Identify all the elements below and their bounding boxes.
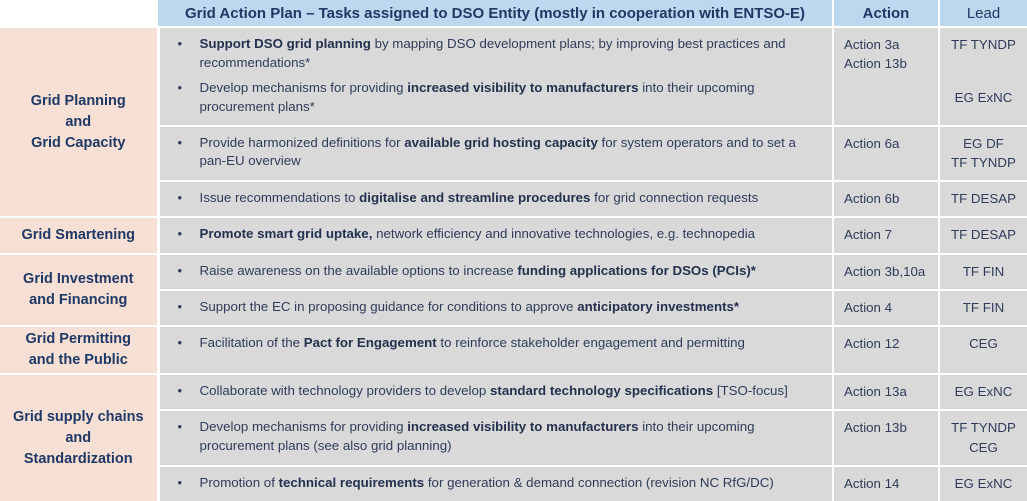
task-bullet-list: •Promotion of technical requirements for… [166,474,823,493]
action-cell: Action 13b [833,410,939,466]
bullet-dot-icon: • [178,225,183,243]
bullet-dot-icon: • [178,79,183,97]
header-title: Grid Action Plan – Tasks assigned to DSO… [158,0,833,27]
header-lead-column: Lead [939,0,1027,27]
bullet-dot-icon: • [178,418,183,436]
grid-action-plan-table-sheet: Grid Action Plan – Tasks assigned to DSO… [0,0,1027,461]
lead-value-secondary: EG ExNC [946,88,1021,107]
task-cell: •Support the EC in proposing guidance fo… [158,290,833,326]
task-cell: •Issue recommendations to digitalise and… [158,181,833,217]
task-bullet-list: •Provide harmonized definitions for avai… [166,134,823,172]
lead-cell: TF TYNDPEG ExNC [939,27,1027,126]
bullet-dot-icon: • [178,189,183,207]
task-bullet-item: •Raise awareness on the available option… [166,262,823,281]
category-label-1: Grid PlanningandGrid Capacity [0,27,158,217]
task-cell: •Facilitation of the Pact for Engagement… [158,326,833,374]
category-label-4: Grid Permittingand the Public [0,326,158,374]
task-bullet-list: •Collaborate with technology providers t… [166,382,823,401]
task-bullet-item: •Promote smart grid uptake, network effi… [166,225,823,244]
action-cell: Action 3a Action 13b [833,27,939,126]
task-bullet-item: •Issue recommendations to digitalise and… [166,189,823,208]
task-bullet-emphasis: increased visibility to manufacturers [407,419,638,434]
grid-action-plan-table: Grid Action Plan – Tasks assigned to DSO… [0,0,1027,501]
task-bullet-list: •Support DSO grid planning by mapping DS… [166,35,823,117]
category-label-3: Grid Investmentand Financing [0,254,158,327]
task-cell: •Support DSO grid planning by mapping DS… [158,27,833,126]
task-bullet-list: •Promote smart grid uptake, network effi… [166,225,823,244]
bullet-dot-icon: • [178,134,183,152]
task-bullet-item: •Provide harmonized definitions for avai… [166,134,823,172]
bullet-dot-icon: • [178,262,183,280]
task-bullet-list: •Support the EC in proposing guidance fo… [166,298,823,317]
lead-cell: TF TYNDP CEG [939,410,1027,466]
bullet-dot-icon: • [178,298,183,316]
table-row: Grid Permittingand the Public•Facilitati… [0,326,1027,374]
lead-cell: EG DF TF TYNDP [939,126,1027,182]
task-cell: •Provide harmonized definitions for avai… [158,126,833,182]
action-cell: Action 6b [833,181,939,217]
task-cell: •Promotion of technical requirements for… [158,466,833,501]
lead-cell: EG ExNC [939,466,1027,501]
table-body: Grid PlanningandGrid Capacity•Support DS… [0,27,1027,501]
task-bullet-item: •Develop mechanisms for providing increa… [166,79,823,117]
table-row: Grid Investmentand Financing•Raise aware… [0,254,1027,290]
task-bullet-emphasis: technical requirements [279,475,425,490]
action-cell: Action 12 [833,326,939,374]
action-cell: Action 4 [833,290,939,326]
lead-cell: EG ExNC [939,374,1027,410]
task-bullet-list: •Develop mechanisms for providing increa… [166,418,823,456]
table-row: Grid supply chainsandStandardization•Col… [0,374,1027,410]
task-cell: •Raise awareness on the available option… [158,254,833,290]
task-bullet-emphasis: Promote smart grid uptake, [200,226,373,241]
task-bullet-emphasis: funding applications for DSOs (PCIs)* [517,263,756,278]
action-cell: Action 14 [833,466,939,501]
action-cell: Action 7 [833,217,939,253]
lead-value-primary: TF TYNDP [946,35,1021,54]
table-row: Grid Smartening•Promote smart grid uptak… [0,217,1027,253]
task-bullet-emphasis: anticipatory investments* [577,299,739,314]
table-row: Grid PlanningandGrid Capacity•Support DS… [0,27,1027,126]
lead-cell: TF FIN [939,290,1027,326]
task-bullet-item: •Collaborate with technology providers t… [166,382,823,401]
task-bullet-emphasis: Support DSO grid planning [200,36,371,51]
task-bullet-item: •Promotion of technical requirements for… [166,474,823,493]
task-cell: •Collaborate with technology providers t… [158,374,833,410]
bullet-dot-icon: • [178,35,183,53]
task-bullet-list: •Issue recommendations to digitalise and… [166,189,823,208]
category-label-5: Grid supply chainsandStandardization [0,374,158,501]
action-cell: Action 3b,10a [833,254,939,290]
task-cell: •Promote smart grid uptake, network effi… [158,217,833,253]
table-header-row: Grid Action Plan – Tasks assigned to DSO… [0,0,1027,27]
category-label-2: Grid Smartening [0,217,158,253]
lead-cell: CEG [939,326,1027,374]
task-bullet-emphasis: digitalise and streamline procedures [359,190,590,205]
lead-cell: TF DESAP [939,181,1027,217]
bullet-dot-icon: • [178,474,183,492]
task-cell: •Develop mechanisms for providing increa… [158,410,833,466]
lead-cell: TF DESAP [939,217,1027,253]
header-corner-blank [0,0,158,27]
task-bullet-emphasis: available grid hosting capacity [404,135,598,150]
lead-cell: TF FIN [939,254,1027,290]
action-cell: Action 13a [833,374,939,410]
bullet-dot-icon: • [178,382,183,400]
task-bullet-list: •Facilitation of the Pact for Engagement… [166,334,823,353]
task-bullet-item: •Develop mechanisms for providing increa… [166,418,823,456]
bullet-dot-icon: • [178,334,183,352]
action-cell: Action 6a [833,126,939,182]
task-bullet-emphasis: standard technology specifications [490,383,713,398]
task-bullet-list: •Raise awareness on the available option… [166,262,823,281]
task-bullet-item: •Support DSO grid planning by mapping DS… [166,35,823,73]
header-action-column: Action [833,0,939,27]
task-bullet-emphasis: Pact for Engagement [304,335,437,350]
task-bullet-emphasis: increased visibility to manufacturers [407,80,638,95]
task-bullet-item: •Support the EC in proposing guidance fo… [166,298,823,317]
task-bullet-item: •Facilitation of the Pact for Engagement… [166,334,823,353]
